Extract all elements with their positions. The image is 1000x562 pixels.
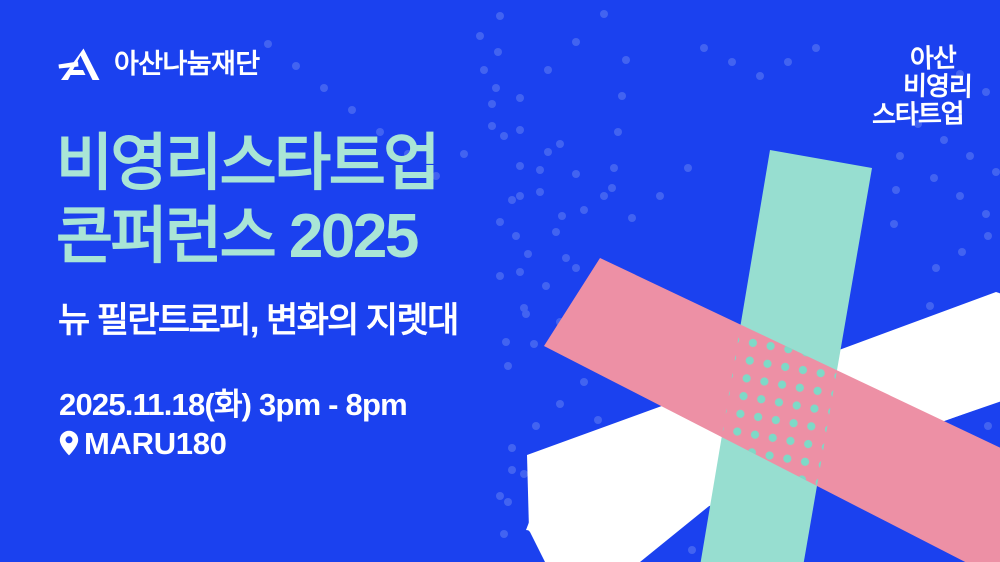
location-pin-icon: [59, 430, 79, 456]
conference-poster: 아산나눔재단 아산 비영리 스타트업 비영리스타트업 콘퍼런스 2025 뉴 필…: [0, 0, 1000, 562]
brand-line-3: 스타트업: [872, 101, 964, 129]
foundation-logo: 아산나눔재단: [58, 47, 259, 81]
asan-a-mark-icon: [58, 47, 102, 81]
brand-stack: 아산 비영리 스타트업: [872, 46, 972, 128]
headline-line-1: 비영리스타트업: [56, 133, 438, 195]
headline: 비영리스타트업 콘퍼런스 2025: [56, 133, 438, 268]
event-datetime: 2025.11.18(화) 3pm - 8pm: [59, 386, 407, 424]
subtitle: 뉴 필란트로피, 변화의 지렛대: [58, 303, 458, 338]
event-info: 2025.11.18(화) 3pm - 8pm MARU180: [59, 386, 407, 459]
headline-line-2: 콘퍼런스 2025: [56, 206, 438, 268]
event-venue: MARU180: [59, 428, 407, 459]
foundation-wordmark: 아산나눔재단: [114, 51, 259, 78]
brand-line-1: 아산: [910, 45, 957, 73]
brand-line-2: 비영리: [903, 73, 972, 101]
event-venue-label: MARU180: [84, 428, 227, 459]
